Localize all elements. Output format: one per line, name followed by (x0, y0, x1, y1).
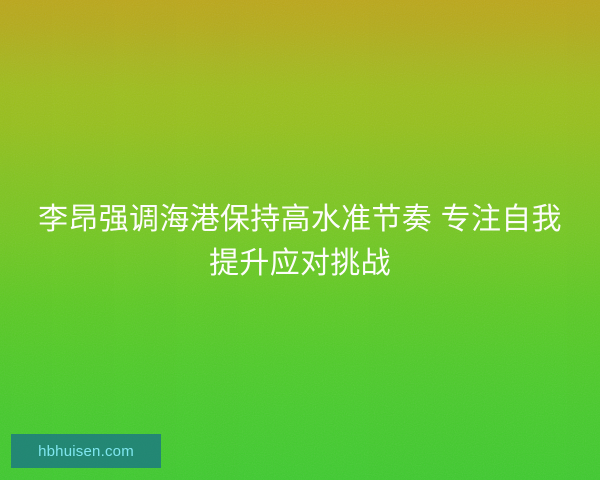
watermark-badge: hbhuisen.com (11, 434, 161, 468)
banner-image: 李昂强调海港保持高水准节奏 专注自我提升应对挑战 hbhuisen.com (0, 0, 600, 480)
watermark-label: hbhuisen.com (38, 444, 134, 459)
headline-text: 李昂强调海港保持高水准节奏 专注自我提升应对挑战 (0, 198, 600, 286)
